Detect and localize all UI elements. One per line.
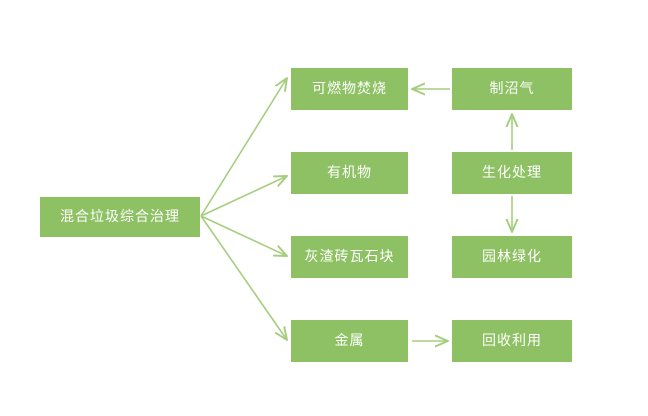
edge-root-to-metal <box>201 216 287 340</box>
node-landscaping[interactable]: 园林绿化 <box>452 236 572 278</box>
node-organic-matter[interactable]: 有机物 <box>291 152 408 194</box>
edge-root-to-ash-brick <box>201 216 287 256</box>
node-biogas-production[interactable]: 制沼气 <box>452 68 572 110</box>
edge-root-to-organic <box>201 176 287 216</box>
node-root[interactable]: 混合垃圾综合治理 <box>40 197 200 237</box>
node-biochemical-treatment[interactable]: 生化处理 <box>452 152 572 194</box>
node-ash-brick-tile-stone[interactable]: 灰渣砖瓦石块 <box>291 236 408 278</box>
flowchart-canvas: 混合垃圾综合治理 可燃物焚烧 有机物 灰渣砖瓦石块 金属 制沼气 生化处理 园林… <box>0 0 648 416</box>
node-combustible-incineration[interactable]: 可燃物焚烧 <box>291 68 408 110</box>
node-metal[interactable]: 金属 <box>291 320 408 362</box>
edge-root-to-combustible <box>201 78 287 216</box>
node-recycling-reuse[interactable]: 回收利用 <box>452 320 572 362</box>
